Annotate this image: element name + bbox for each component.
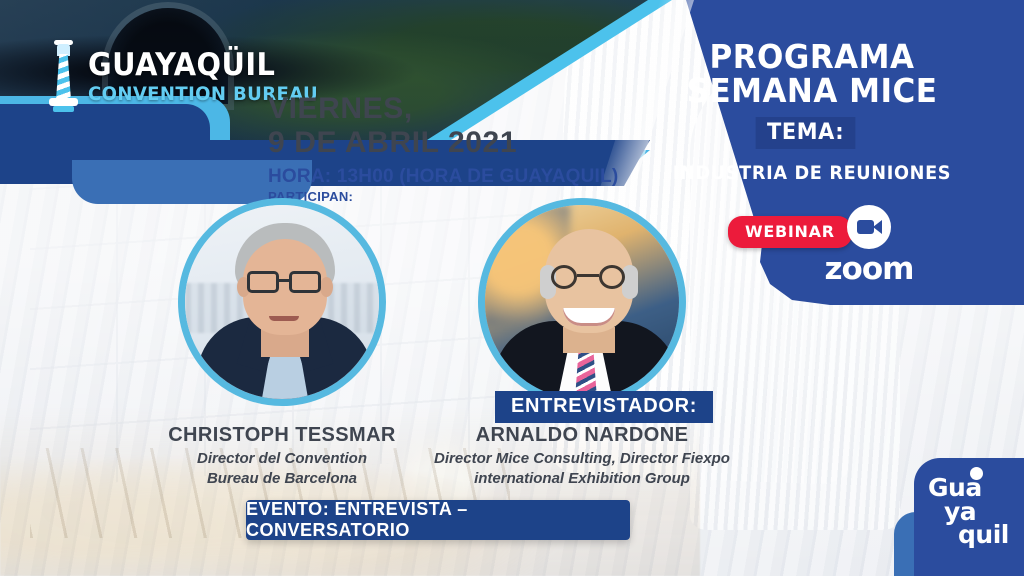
event-type-banner: EVENTO: ENTREVISTA – CONVERSATORIO xyxy=(246,500,630,540)
avatar-speaker-2 xyxy=(478,198,686,406)
interviewer-badge: ENTREVISTADOR: xyxy=(495,391,713,423)
city-logo: Gua ya quil xyxy=(914,458,1024,576)
event-time: HORA: 13H00 (HORA DE GUAYAQUIL) xyxy=(268,166,618,188)
video-camera-icon xyxy=(847,205,891,249)
speaker-1-role-line-2: Bureau de Barcelona xyxy=(150,469,414,489)
date-line-2: 9 DE ABRIL 2021 xyxy=(268,126,618,160)
city-logo-dot xyxy=(970,467,983,480)
program-title: PROGRAMA SEMANA MICE xyxy=(613,40,1012,108)
portrait-arnaldo-nardone xyxy=(485,205,679,399)
city-logo-line-1: Gua xyxy=(928,476,1012,500)
speaker-1-role-line-1: Director del Convention xyxy=(150,449,414,469)
speaker-1-name: CHRISTOPH TESSMAR xyxy=(150,424,414,447)
brand-logo-main: GUAYAQÜIL xyxy=(88,50,313,81)
speaker-2-role-line-2: international Exhibition Group xyxy=(400,469,764,489)
lighthouse-icon xyxy=(48,40,78,114)
speaker-1-name-block: CHRISTOPH TESSMAR Director del Conventio… xyxy=(150,424,414,488)
topic-text: INDUSTRIA DE REUNIONES xyxy=(615,162,1009,184)
event-date-block: VIERNES, 9 DE ABRIL 2021 HORA: 13H00 (HO… xyxy=(268,92,618,204)
date-line-1: VIERNES, xyxy=(268,92,618,126)
speaker-2-role-line-1: Director Mice Consulting, Director Fiexp… xyxy=(400,449,764,469)
speaker-1-role: Director del Convention Bureau de Barcel… xyxy=(150,449,414,488)
program-title-line-1: PROGRAMA xyxy=(613,40,1012,74)
zoom-wordmark: zoom xyxy=(822,251,916,287)
topic-label-badge: TEMA: xyxy=(755,117,855,149)
program-title-line-2: SEMANA MICE xyxy=(613,74,1012,108)
speaker-2-name-block: ARNALDO NARDONE Director Mice Consulting… xyxy=(400,424,764,488)
zoom-logo: zoom xyxy=(822,205,916,287)
speaker-2-name: ARNALDO NARDONE xyxy=(400,424,764,447)
speaker-2-role: Director Mice Consulting, Director Fiexp… xyxy=(400,449,764,488)
avatar-speaker-1 xyxy=(178,198,386,406)
flyer-canvas: GUAYAQÜIL CONVENTION BUREAU VIERNES, 9 D… xyxy=(0,0,1024,576)
portrait-christoph-tessmar xyxy=(185,205,379,399)
city-logo-line-3: quil xyxy=(928,523,1012,547)
